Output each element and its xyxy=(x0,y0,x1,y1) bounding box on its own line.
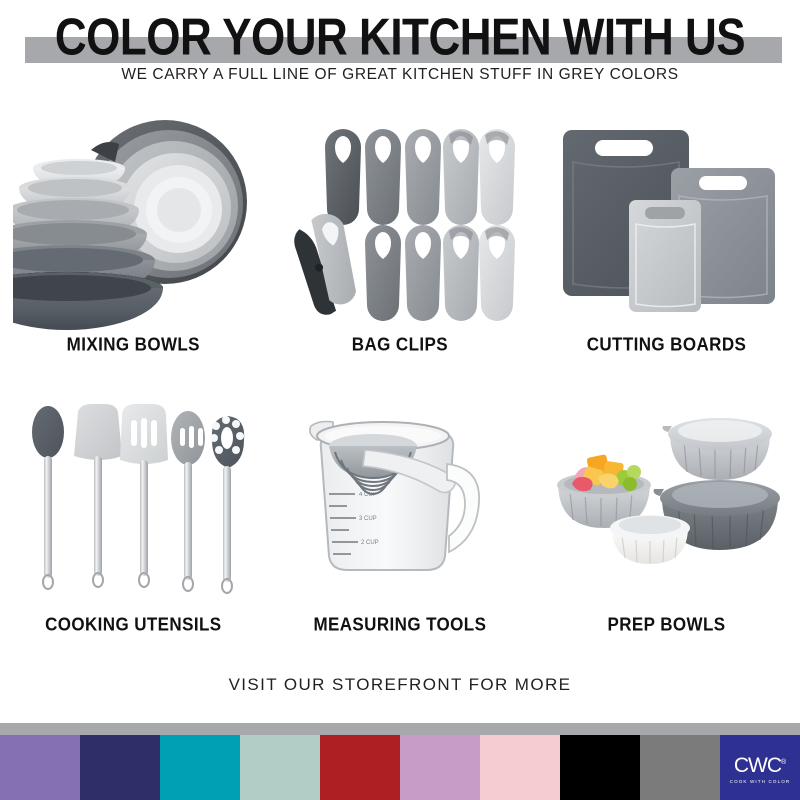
product-row-2: COOKING UTENSILS xyxy=(0,388,800,668)
product-label-cutting-boards: CUTTING BOARDS xyxy=(587,334,747,356)
svg-text:3 CUP: 3 CUP xyxy=(359,516,377,522)
page-subtitle: WE CARRY A FULL LINE OF GREAT KITCHEN ST… xyxy=(0,66,800,84)
bag-clips-image xyxy=(275,108,525,333)
product-label-mixing-bowls: MIXING BOWLS xyxy=(67,334,200,356)
product-label-cooking-utensils: COOKING UTENSILS xyxy=(45,614,221,636)
svg-text:2 CUP: 2 CUP xyxy=(361,540,379,546)
product-cell-measuring-tools[interactable]: 4 CUP 3 CUP 2 CUP MEASURING TOOLS xyxy=(267,388,534,668)
swatch-grey xyxy=(640,735,720,800)
swatch-blush xyxy=(480,735,560,800)
header: COLOR YOUR KITCHEN WITH US WE CARRY A FU… xyxy=(0,0,800,100)
brand-mark-text: CWC xyxy=(734,754,781,777)
product-label-prep-bowls: PREP BOWLS xyxy=(607,614,725,636)
product-cell-cooking-utensils[interactable]: COOKING UTENSILS xyxy=(0,388,267,668)
swatch-purple xyxy=(0,735,80,800)
mixing-bowls-image xyxy=(8,108,258,333)
product-label-measuring-tools: MEASURING TOOLS xyxy=(313,614,486,636)
swatch-navy xyxy=(80,735,160,800)
product-cell-prep-bowls[interactable]: PREP BOWLS xyxy=(533,388,800,668)
swatch-mint xyxy=(240,735,320,800)
measuring-tools-image: 4 CUP 3 CUP 2 CUP xyxy=(275,388,525,613)
swatch-black xyxy=(560,735,640,800)
prep-bowls-image xyxy=(541,388,791,613)
brand-logo: CWC® COOK WITH COLOR xyxy=(720,735,800,800)
cutting-boards-image xyxy=(541,108,791,333)
product-label-bag-clips: BAG CLIPS xyxy=(352,334,448,356)
swatch-brand-blue: CWC® COOK WITH COLOR xyxy=(720,735,800,800)
promo-page: COLOR YOUR KITCHEN WITH US WE CARRY A FU… xyxy=(0,0,800,800)
product-cell-bag-clips[interactable]: BAG CLIPS xyxy=(267,108,534,388)
swatch-teal xyxy=(160,735,240,800)
product-grid: MIXING BOWLS xyxy=(0,108,800,668)
swatch-orchid xyxy=(400,735,480,800)
product-row-1: MIXING BOWLS xyxy=(0,108,800,388)
storefront-cta[interactable]: VISIT OUR STOREFRONT FOR MORE xyxy=(0,675,800,695)
svg-text:4 CUP: 4 CUP xyxy=(359,492,377,498)
brand-tagline: COOK WITH COLOR xyxy=(730,779,791,784)
brand-mark: CWC® xyxy=(734,752,786,776)
page-title: COLOR YOUR KITCHEN WITH US xyxy=(0,12,800,64)
cooking-utensils-image xyxy=(8,388,258,613)
product-cell-cutting-boards[interactable]: CUTTING BOARDS xyxy=(533,108,800,388)
registered-icon: ® xyxy=(781,759,786,766)
color-swatch-strip: CWC® COOK WITH COLOR xyxy=(0,735,800,800)
strip-top-band xyxy=(0,723,800,735)
swatch-red xyxy=(320,735,400,800)
product-cell-mixing-bowls[interactable]: MIXING BOWLS xyxy=(0,108,267,388)
